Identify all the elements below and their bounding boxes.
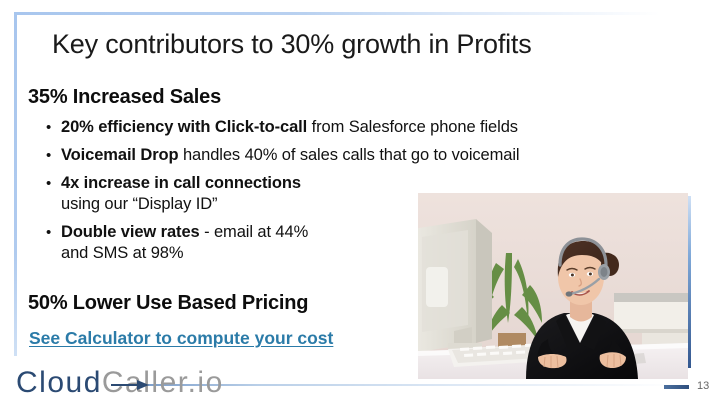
page-title: Key contributors to 30% growth in Profit… (52, 27, 672, 61)
calculator-link[interactable]: See Calculator to compute your cost (29, 327, 333, 350)
bullet-highlight: Double view rates (61, 223, 200, 241)
page-number-rule (664, 385, 689, 389)
agent-photo (418, 193, 688, 379)
agent-photo-illustration (418, 193, 688, 379)
bullet-highlight: 4x increase in call connections (61, 174, 301, 192)
brand-logo: CloudCaller.io (16, 366, 224, 400)
bullet-text: from Salesforce phone fields (307, 118, 518, 136)
logo-primary-text: Cloud (16, 366, 102, 399)
list-item: Voicemail Drop handles 40% of sales call… (46, 145, 696, 166)
bullet-text: - email at 44% (200, 223, 309, 241)
bullet-highlight: 20% efficiency with Click-to-call (61, 118, 307, 136)
slide-border-top (14, 12, 660, 15)
page-number: 13 (697, 379, 709, 393)
section-heading-sales: 35% Increased Sales (28, 84, 221, 110)
presentation-slide: Key contributors to 30% growth in Profit… (0, 0, 720, 405)
list-item: 20% efficiency with Click-to-call from S… (46, 117, 696, 138)
section-heading-pricing: 50% Lower Use Based Pricing (28, 290, 308, 316)
arrow-right-icon (111, 379, 153, 391)
slide-border-left (14, 12, 17, 356)
bullet-text: handles 40% of sales calls that go to vo… (179, 146, 520, 164)
bullet-highlight: Voicemail Drop (61, 146, 179, 164)
